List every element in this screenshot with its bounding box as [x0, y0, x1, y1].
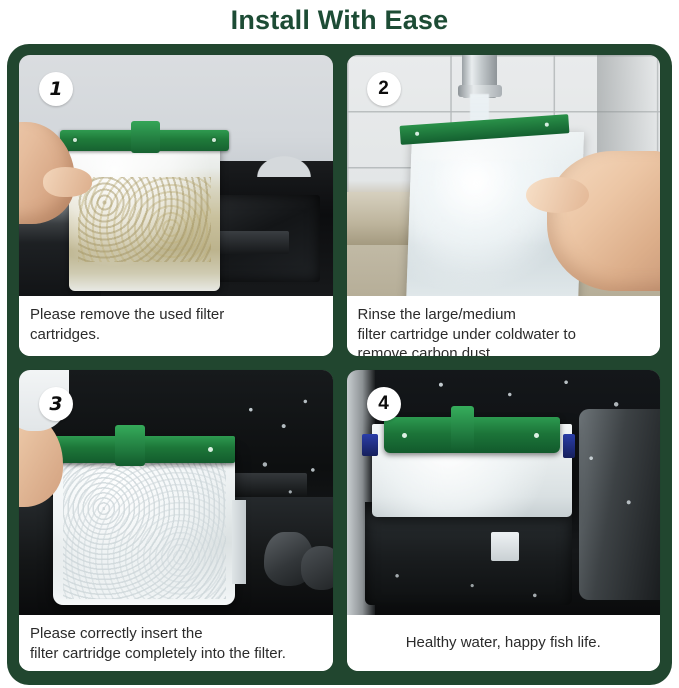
photo3-green-clip	[47, 436, 235, 463]
caption-line: cartridges.	[30, 325, 322, 345]
photo1-clip-rivet-left	[73, 138, 77, 142]
step-badge-2: 2	[367, 72, 401, 106]
step-card-4: 4 Healthy water, happy fish life.	[347, 370, 661, 671]
caption-line: Rinse the large/medium	[358, 305, 650, 325]
photo3-clean-cartridge	[53, 451, 235, 605]
step-caption-4: Healthy water, happy fish life.	[347, 615, 661, 671]
photo2-fingers	[526, 177, 589, 213]
caption-line: remove carbon dust.	[358, 344, 650, 356]
step-caption-3: Please correctly insert the filter cartr…	[19, 615, 333, 671]
step-badge-1: 1	[39, 72, 73, 106]
step-photo-2: 2	[347, 55, 661, 296]
step-card-1: 1 Please remove the used filter cartridg…	[19, 55, 333, 356]
photo3-cartridge-edge	[232, 500, 247, 583]
caption-line: filter cartridge completely into the fil…	[30, 644, 322, 664]
photo2-clip-rivet-left	[415, 131, 419, 135]
photo1-green-clip	[60, 130, 229, 152]
step-badge-4: 4	[367, 387, 401, 421]
step-photo-4: 4	[347, 370, 661, 615]
step-caption-2: Rinse the large/medium filter cartridge …	[347, 296, 661, 356]
photo1-clip-tab	[131, 121, 160, 154]
photo3-clip-tab	[115, 425, 145, 465]
photo1-used-cartridge	[69, 144, 219, 291]
caption-line: filter cartridge under coldwater to	[358, 325, 650, 345]
photo2-faucet	[462, 55, 496, 98]
photo3-impeller-knob-2	[301, 546, 332, 590]
photo1-tray-slot	[215, 231, 289, 254]
caption-line: Healthy water, happy fish life.	[406, 633, 601, 653]
step-card-3: 3 Please correctly insert the filter car…	[19, 370, 333, 671]
step-card-2: 2 Rinse the large/medium filter cartridg…	[347, 55, 661, 356]
steps-frame: 1 Please remove the used filter cartridg…	[7, 44, 672, 685]
step-badge-3: 3	[39, 387, 73, 421]
caption-line: Please remove the used filter	[30, 305, 322, 325]
step-photo-1: 1	[19, 55, 333, 296]
step-photo-3: 3	[19, 370, 333, 615]
photo3-water-droplets	[232, 385, 326, 522]
photo2-clip-rivet-right	[544, 122, 548, 126]
page-title: Install With Ease	[0, 1, 679, 39]
photo2-water-splash	[415, 161, 559, 272]
caption-line: Please correctly insert the	[30, 624, 322, 644]
photo1-thumb	[43, 167, 92, 197]
install-guide-page: Install With Ease 1	[0, 0, 679, 688]
photo1-clip-rivet-right	[212, 138, 216, 142]
photo3-clip-rivet-right	[208, 447, 213, 452]
step-caption-1: Please remove the used filter cartridges…	[19, 296, 333, 356]
